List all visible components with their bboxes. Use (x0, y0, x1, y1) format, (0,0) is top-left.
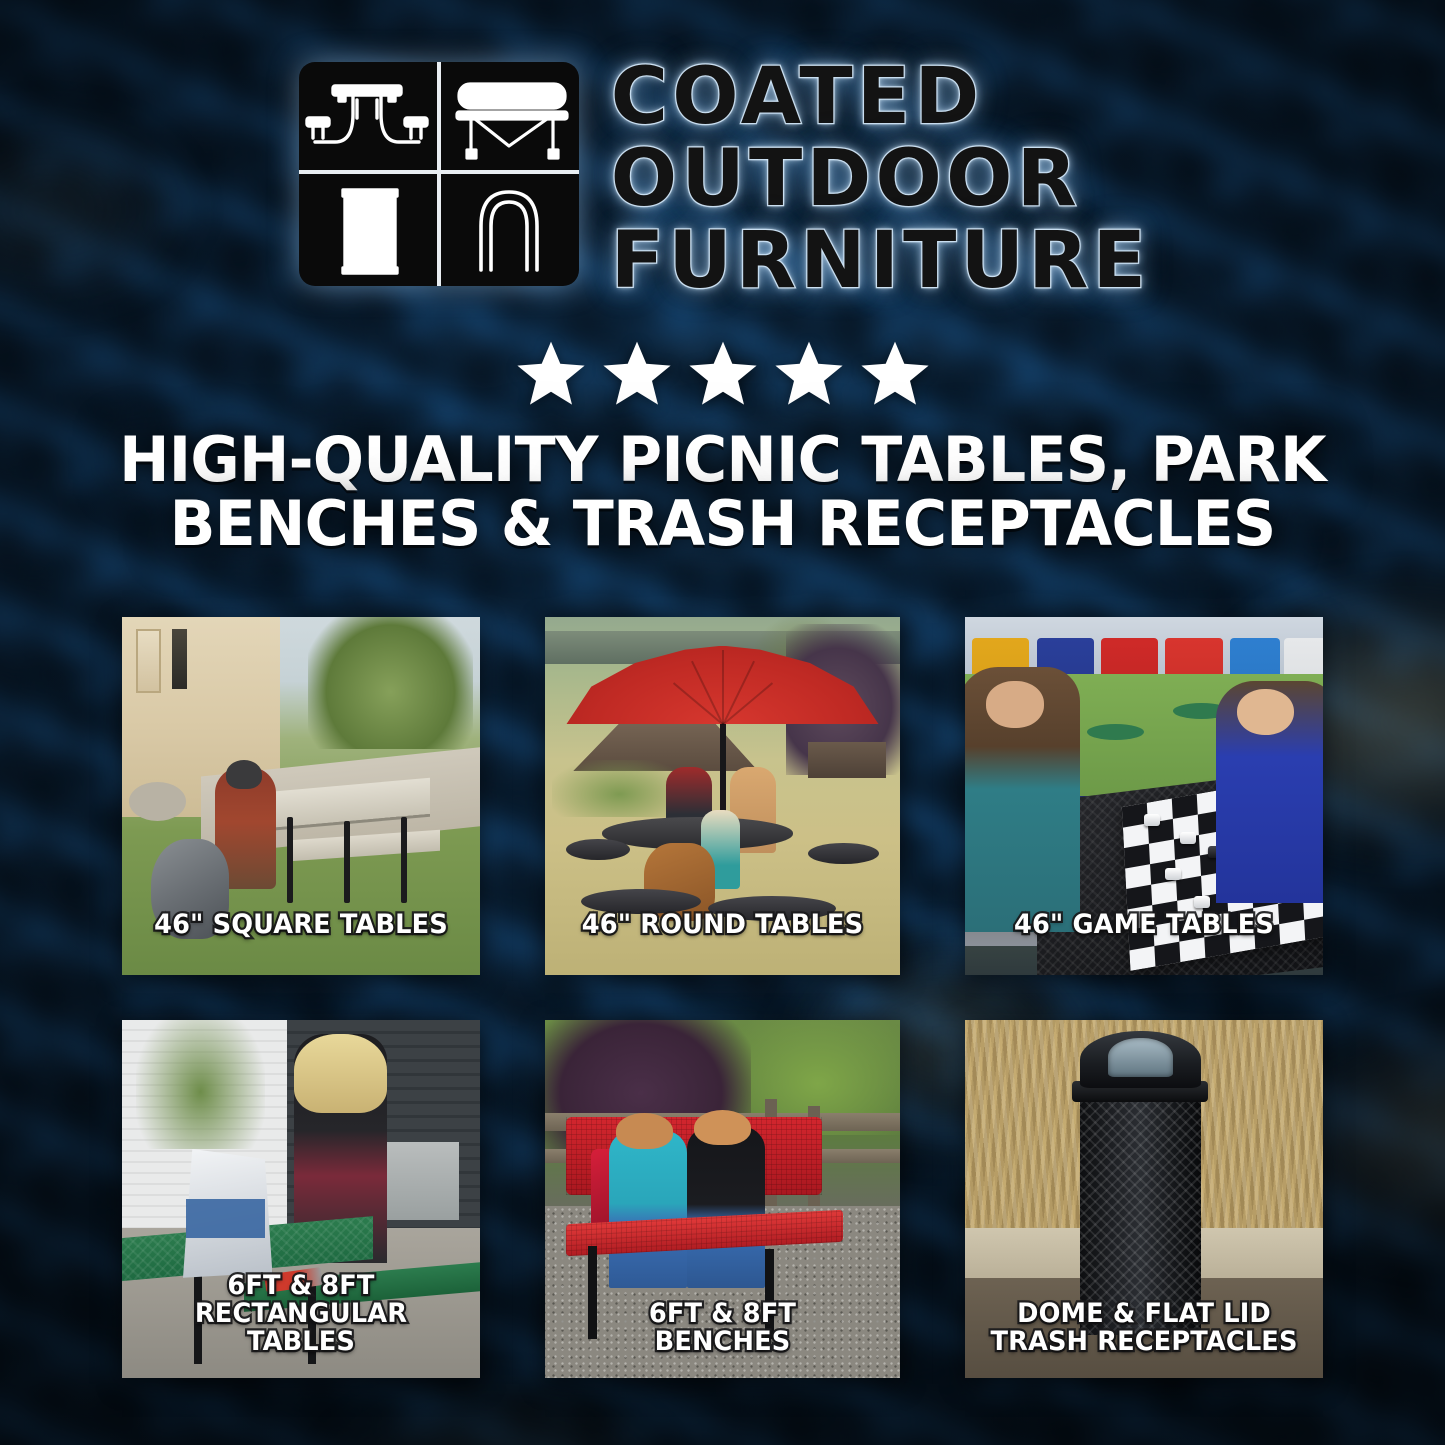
page-title: HIGH-QUALITY PICNIC TABLES, PARK BENCHES… (80, 428, 1365, 556)
headline-line-1: HIGH-QUALITY PICNIC TABLES, PARK (80, 428, 1365, 492)
product-label-line-1: 6FT & 8FT (649, 1298, 796, 1329)
promo-poster: COATED OUTDOOR FURNITURE HIGH-QUALITY PI… (0, 0, 1445, 1445)
product-label-line-1: 6FT & 8FT (227, 1270, 374, 1301)
product-label-trash-receptacles: DOME & FLAT LID TRASH RECEPTACLES (980, 1300, 1309, 1356)
brand-logo: COATED OUTDOOR FURNITURE (0, 58, 1445, 297)
product-label-line-2: RECTANGULAR TABLES (195, 1298, 407, 1357)
star-icon (599, 338, 675, 410)
star-rating (0, 338, 1445, 410)
product-tile-square-tables[interactable]: 46" SQUARE TABLES (122, 617, 480, 975)
product-label-round-tables: 46" ROUND TABLES (560, 911, 886, 939)
brand-name-line-2: OUTDOOR (611, 144, 1150, 216)
furniture-quad-icon (295, 58, 583, 290)
brand-wordmark: COATED OUTDOOR FURNITURE (611, 62, 1150, 297)
star-icon (857, 338, 933, 410)
star-icon (771, 338, 847, 410)
product-tile-trash-receptacles[interactable]: DOME & FLAT LID TRASH RECEPTACLES (965, 1020, 1323, 1378)
brand-name-line-3: FURNITURE (611, 226, 1150, 298)
product-grid: 46" SQUARE TABLES (122, 617, 1323, 1378)
product-label-line-2: BENCHES (655, 1326, 791, 1357)
product-label-game-tables: 46" GAME TABLES (980, 911, 1309, 939)
product-tile-benches[interactable]: 6FT & 8FT BENCHES (545, 1020, 900, 1378)
product-tile-rectangular-tables[interactable]: 6FT & 8FT RECTANGULAR TABLES (122, 1020, 480, 1378)
product-label-rectangular-tables: 6FT & 8FT RECTANGULAR TABLES (137, 1272, 466, 1356)
headline-line-2: BENCHES & TRASH RECEPTACLES (80, 492, 1365, 556)
product-label-benches: 6FT & 8FT BENCHES (560, 1300, 886, 1356)
product-label-line-1: DOME & FLAT LID (1017, 1298, 1271, 1329)
product-tile-round-tables[interactable]: 46" ROUND TABLES (545, 617, 900, 975)
star-icon (513, 338, 589, 410)
brand-name-line-1: COATED (611, 62, 1150, 134)
product-label-line-2: TRASH RECEPTACLES (990, 1326, 1297, 1357)
product-tile-game-tables[interactable]: 46" GAME TABLES (965, 617, 1323, 975)
star-icon (685, 338, 761, 410)
product-label-square-tables: 46" SQUARE TABLES (137, 911, 466, 939)
